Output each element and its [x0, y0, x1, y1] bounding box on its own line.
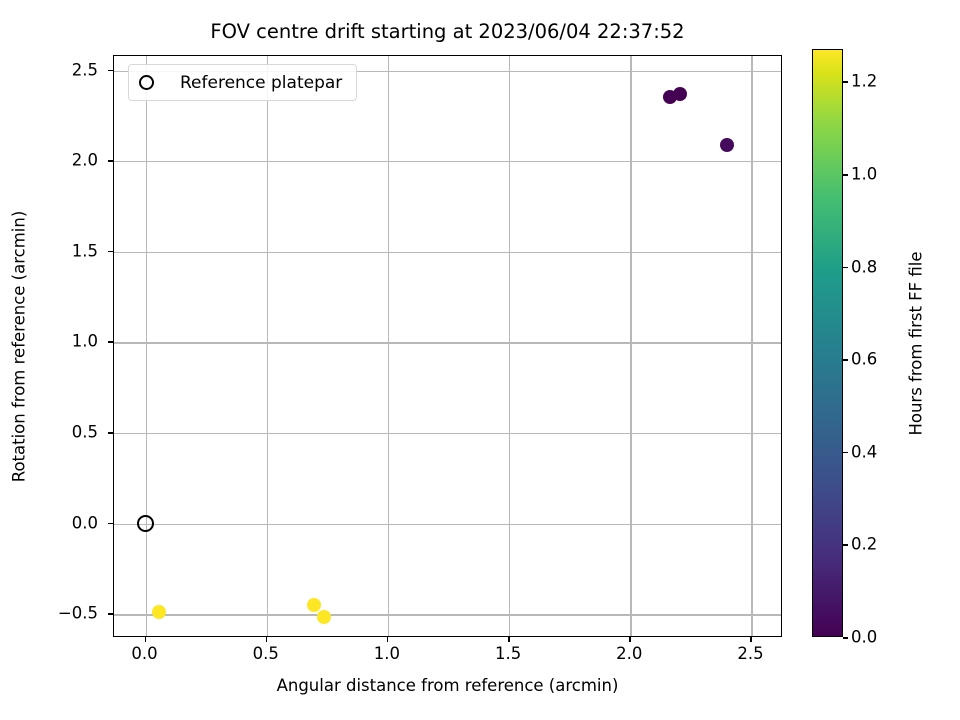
page-title: FOV centre drift starting at 2023/06/04 …	[113, 20, 782, 43]
y-tick-mark-2	[108, 251, 113, 253]
y-tick-label-0: 2.5	[72, 60, 98, 79]
x-tick-mark-0	[145, 637, 147, 642]
x-tick-label-2: 1.0	[374, 644, 400, 663]
x-tick-mark-4	[629, 637, 631, 642]
colorbar-tick-mark-6	[843, 81, 848, 83]
gridline-horizontal-6	[114, 614, 781, 615]
gridline-horizontal-5	[114, 524, 781, 525]
plot-area: Reference platepar	[113, 55, 782, 637]
x-tick-mark-1	[266, 637, 268, 642]
x-tick-label-3: 1.5	[495, 644, 521, 663]
y-tick-mark-3	[108, 341, 113, 343]
colorbar-tick-mark-2	[843, 452, 848, 454]
x-tick-label-0: 0.0	[131, 644, 157, 663]
y-tick-label-4: 0.5	[72, 423, 98, 442]
x-tick-label-4: 2.0	[616, 644, 642, 663]
colorbar-tick-label-3: 0.6	[851, 350, 877, 369]
gridline-horizontal-1	[114, 161, 781, 162]
gridline-vertical-1	[267, 56, 268, 636]
y-tick-label-3: 1.0	[72, 332, 98, 351]
gridline-vertical-3	[509, 56, 510, 636]
data-point	[720, 138, 734, 152]
y-axis-label: Rotation from reference (arcmin)	[8, 55, 30, 637]
x-tick-mark-5	[750, 637, 752, 642]
legend-open-circle-icon	[139, 75, 154, 90]
gridline-vertical-5	[751, 56, 752, 636]
y-tick-label-1: 2.0	[72, 151, 98, 170]
colorbar-tick-label-4: 0.8	[851, 257, 877, 276]
gridline-vertical-4	[630, 56, 631, 636]
colorbar-label-text: Hours from first FF file	[907, 251, 926, 435]
x-tick-mark-2	[387, 637, 389, 642]
x-tick-label-5: 2.5	[737, 644, 763, 663]
colorbar-tick-label-0: 0.0	[851, 628, 877, 647]
y-tick-label-6: −0.5	[58, 604, 98, 623]
y-tick-mark-5	[108, 523, 113, 525]
colorbar-tick-mark-3	[843, 359, 848, 361]
legend-item-label: Reference platepar	[180, 73, 342, 93]
data-point	[307, 598, 321, 612]
colorbar-tick-mark-5	[843, 174, 848, 176]
y-tick-mark-0	[108, 70, 113, 72]
gridline-horizontal-3	[114, 342, 781, 343]
colorbar-tick-mark-1	[843, 544, 848, 546]
y-tick-mark-4	[108, 432, 113, 434]
x-tick-label-1: 0.5	[253, 644, 279, 663]
reference-platepar-marker	[137, 515, 154, 532]
data-point	[317, 610, 331, 624]
gridline-vertical-2	[388, 56, 389, 636]
colorbar-label: Hours from first FF file	[905, 49, 927, 637]
legend: Reference platepar	[128, 64, 357, 101]
data-point	[673, 87, 687, 101]
colorbar-tick-label-6: 1.2	[851, 72, 877, 91]
colorbar-tick-mark-4	[843, 267, 848, 269]
y-axis-label-text: Rotation from reference (arcmin)	[10, 210, 29, 482]
gridline-horizontal-4	[114, 433, 781, 434]
y-tick-mark-6	[108, 613, 113, 615]
gridline-horizontal-2	[114, 252, 781, 253]
x-tick-mark-3	[508, 637, 510, 642]
x-axis-label: Angular distance from reference (arcmin)	[113, 676, 782, 695]
y-tick-label-2: 1.5	[72, 241, 98, 260]
figure-canvas: FOV centre drift starting at 2023/06/04 …	[0, 0, 960, 720]
y-tick-label-5: 0.0	[72, 513, 98, 532]
gridline-vertical-0	[146, 56, 147, 636]
colorbar-tick-label-2: 0.4	[851, 442, 877, 461]
colorbar-gradient	[812, 49, 843, 637]
colorbar-tick-label-5: 1.0	[851, 165, 877, 184]
colorbar-tick-mark-0	[843, 637, 848, 639]
colorbar-tick-label-1: 0.2	[851, 535, 877, 554]
data-point	[152, 605, 166, 619]
y-tick-mark-1	[108, 160, 113, 162]
